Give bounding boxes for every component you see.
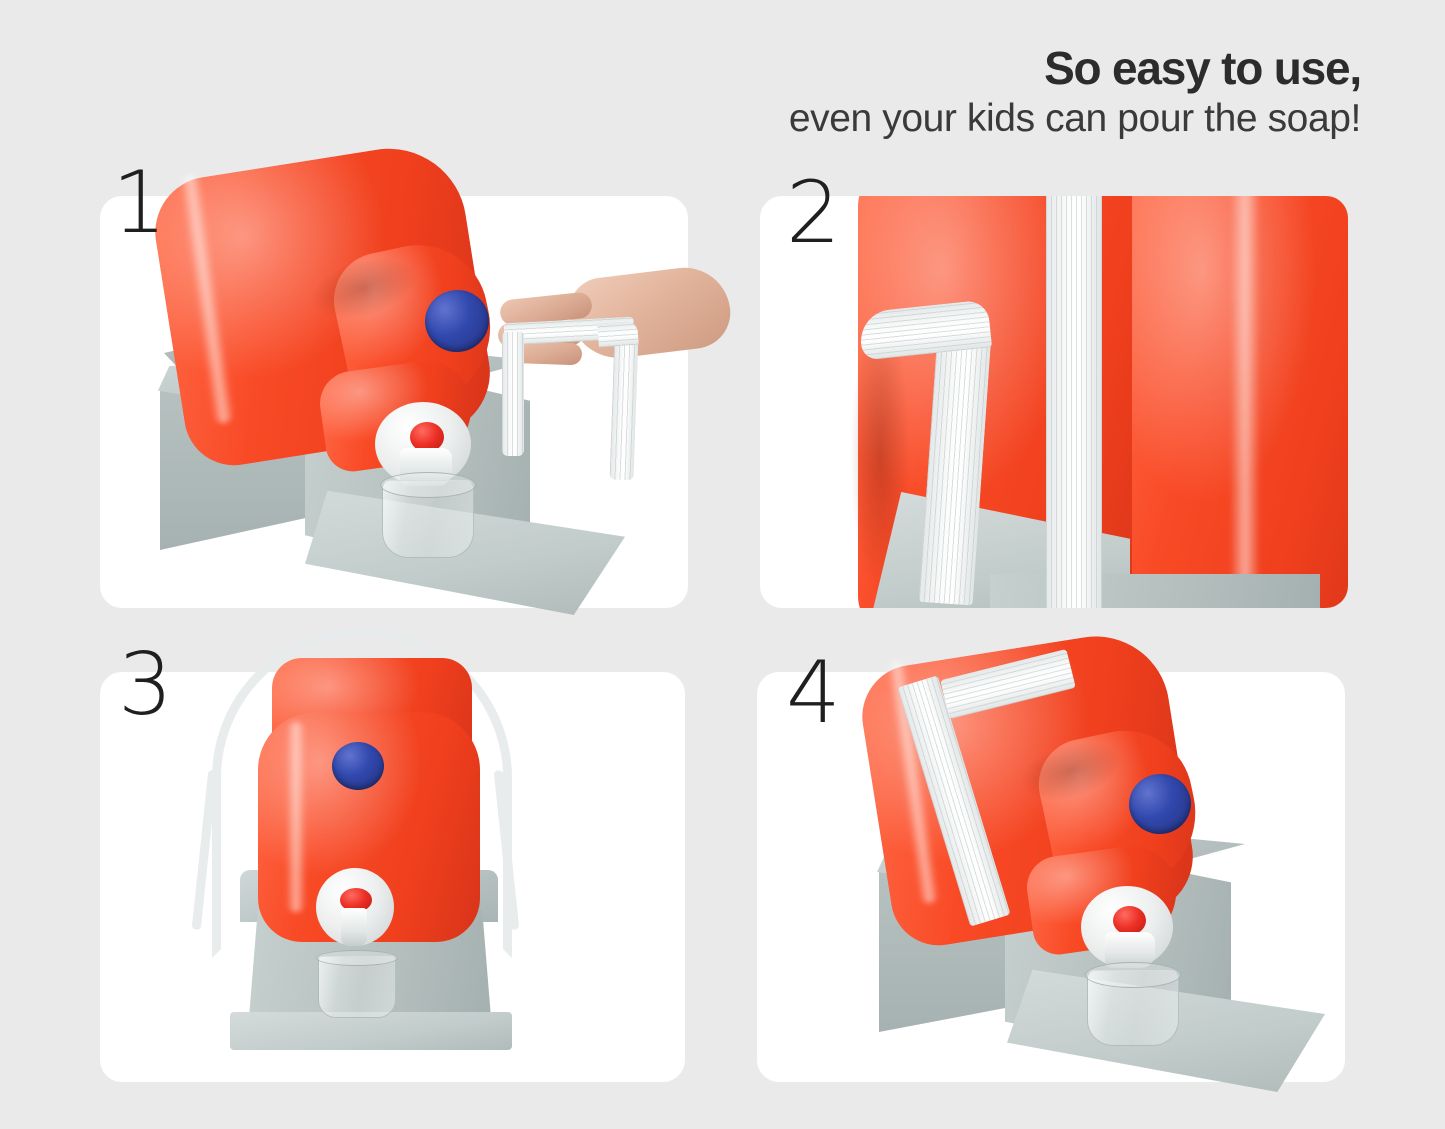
spigot-lever-front [341,908,367,946]
page-title: So easy to use, [561,44,1361,92]
measuring-cup-rim [380,472,476,498]
hand [566,263,735,364]
step-number-1: 1 [112,160,165,246]
step-3-illustration [100,620,685,1082]
step-number-2: 2 [786,170,839,256]
spigot-red-button-4 [1113,906,1146,935]
header-block: So easy to use, even your kids can pour … [561,44,1361,141]
step-1-illustration [100,150,688,620]
measuring-cup-rim-4 [1085,962,1181,988]
stand-lower-closeup [990,574,1320,608]
measuring-cup-rim-front [316,950,398,966]
step-number-4: 4 [786,650,839,736]
strap-vertical-band [1046,196,1102,608]
jug-front-highlight [286,722,306,912]
step-4-illustration [757,640,1345,1082]
jug-closeup-highlight [1230,196,1260,608]
u-strap-corner [597,321,639,348]
page-subtitle: even your kids can pour the soap! [561,98,1361,141]
u-strap-right-leg [609,336,638,481]
blue-cap-front [332,742,384,790]
u-strap-left-leg [502,332,524,456]
step-2-illustration [760,196,1348,608]
step-number-3: 3 [118,642,171,728]
